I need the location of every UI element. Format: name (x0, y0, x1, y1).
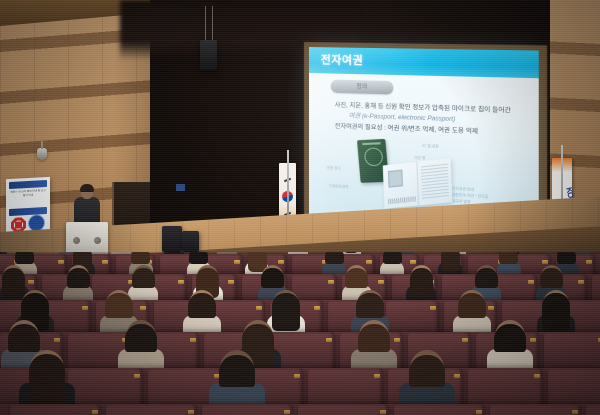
auditorium-seat (394, 404, 485, 415)
audience-member-hair (494, 324, 526, 352)
auditorium-seat (490, 404, 581, 415)
audience-member-hair (458, 293, 486, 317)
speaker-wire-left (205, 6, 206, 42)
audience-member-hair (356, 293, 384, 317)
audience-member-hair (542, 293, 570, 331)
audience-member-hair (131, 252, 150, 264)
auditorium-seat (106, 404, 197, 415)
audience-member-hair (219, 355, 255, 386)
audience-member-hair (125, 324, 157, 352)
diagram-label-1: 여권 표지 (327, 166, 341, 172)
passport-photo-area (388, 170, 403, 188)
exit-sign-icon (176, 184, 185, 191)
audience-member-hair (132, 268, 155, 287)
audience-member-hair (540, 268, 563, 287)
passport-text-lines (421, 164, 449, 200)
diagram-label-4: 기계판독영역 (329, 184, 349, 190)
poster-header-band-2 (9, 207, 47, 216)
audience-member-hair (410, 268, 433, 298)
slide-section-pill-label: 정의 (331, 81, 394, 92)
audience-member-hair (383, 252, 402, 264)
auditorium-seat (586, 404, 600, 415)
auditorium-photo: 캠퍼스 내 금지 행위 안내 및 신고 절차 안내 전자여권 정의 사진, 지문… (0, 0, 600, 415)
presenter-hair (80, 184, 94, 192)
passport-open-pages (383, 158, 452, 209)
audience-member-hair (325, 252, 344, 264)
lectern-knob-right (94, 237, 101, 244)
audience-member-hair (261, 268, 284, 287)
slide-title: 전자여권 (321, 51, 363, 68)
audience-seat-row (0, 404, 600, 415)
audience-member-hair (2, 268, 25, 298)
audience-member-hair (189, 252, 208, 264)
wall-poster: 캠퍼스 내 금지 행위 안내 및 신고 절차 안내 (6, 177, 50, 237)
audience-member-hair (272, 293, 300, 331)
audience-member-hair (409, 355, 445, 386)
audience-member-hair (557, 252, 576, 264)
audience-member-hair (441, 252, 460, 272)
diagram-label-3: 사진 면 (414, 156, 425, 162)
stage-monitor-left (162, 226, 182, 252)
wall-light-icon (37, 148, 47, 160)
speaker-wire-right (212, 6, 213, 42)
audience-member-hair (8, 324, 40, 352)
hanging-speaker-icon (200, 40, 217, 70)
audience-member-hair (345, 268, 368, 287)
stage-monitor-right (182, 231, 199, 252)
poster-subtext: 캠퍼스 내 금지 행위 안내 및 신고 절차 안내 (9, 189, 47, 199)
diagram-label-2: IC 칩 내장 (422, 144, 438, 150)
audience-member-hair (358, 324, 390, 352)
room-interior: 캠퍼스 내 금지 행위 안내 및 신고 절차 안내 전자여권 정의 사진, 지문… (0, 0, 600, 415)
audience-member-hair (15, 252, 34, 264)
audience-member-hair (475, 268, 498, 287)
audience-member-hair (499, 252, 518, 264)
auditorium-seat (298, 404, 389, 415)
audience-member-hair (29, 354, 65, 403)
passport-mrz-area (388, 196, 416, 204)
slide-section-pill: 정의 (331, 80, 394, 95)
lectern-knob-left (73, 237, 80, 244)
auditorium-seat (202, 404, 293, 415)
audience-member-hair (188, 293, 216, 317)
audience-seating (0, 252, 600, 415)
audience-member-hair (67, 268, 90, 287)
audience-member-hair (105, 293, 133, 317)
auditorium-seat (10, 404, 101, 415)
poster-header-band-1 (9, 180, 47, 189)
